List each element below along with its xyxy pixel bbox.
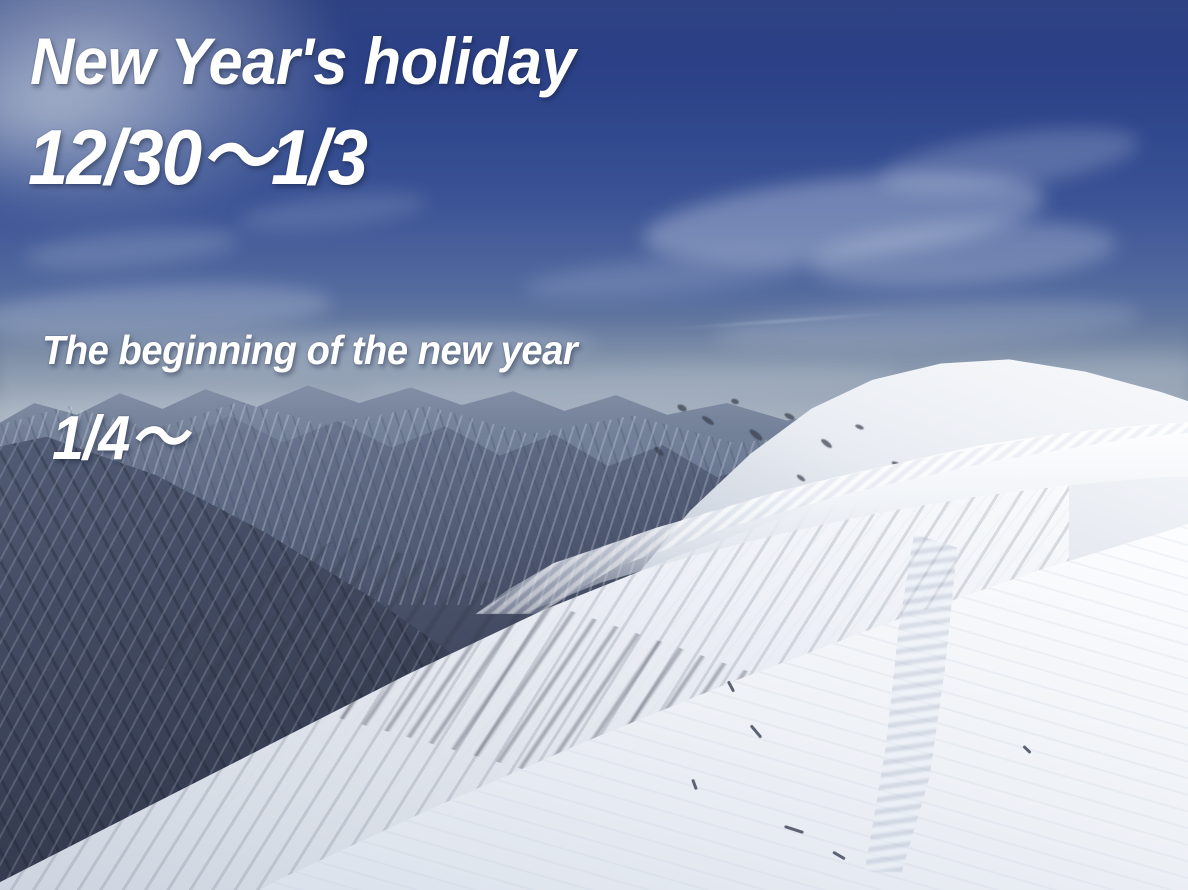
reopen-heading: The beginning of the new year (42, 330, 577, 371)
holiday-heading: New Year's holiday (30, 28, 575, 94)
text-overlay: New Year's holiday 12/30〜1/3 The beginni… (0, 0, 1188, 890)
holiday-dates: 12/30〜1/3 (28, 118, 366, 196)
reopen-date: 1/4〜 (52, 408, 186, 470)
new-year-holiday-poster: New Year's holiday 12/30〜1/3 The beginni… (0, 0, 1188, 890)
